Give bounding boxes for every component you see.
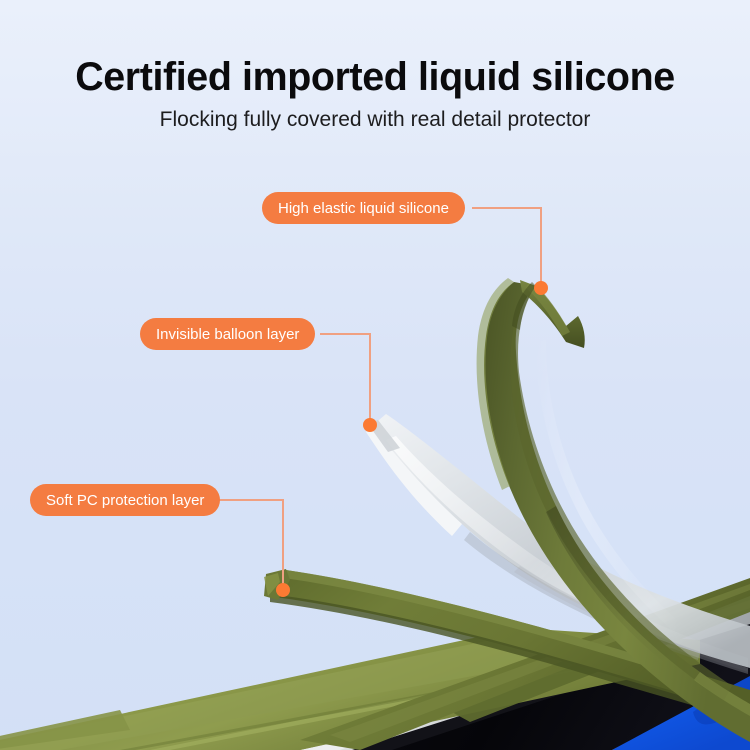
callout-label-2: Invisible balloon layer bbox=[156, 326, 299, 343]
product-infographic: Certified imported liquid silicone Flock… bbox=[0, 0, 750, 750]
callout-soft-pc-protection-layer: Soft PC protection layer bbox=[30, 484, 220, 516]
page-title: Certified imported liquid silicone bbox=[6, 55, 745, 100]
callout-high-elastic-liquid-silicone: High elastic liquid silicone bbox=[262, 192, 465, 224]
callout-label-1: High elastic liquid silicone bbox=[278, 200, 449, 217]
page-subtitle: Flocking fully covered with real detail … bbox=[0, 108, 750, 132]
callout-label-3: Soft PC protection layer bbox=[46, 492, 204, 509]
callout-invisible-balloon-layer: Invisible balloon layer bbox=[140, 318, 315, 350]
